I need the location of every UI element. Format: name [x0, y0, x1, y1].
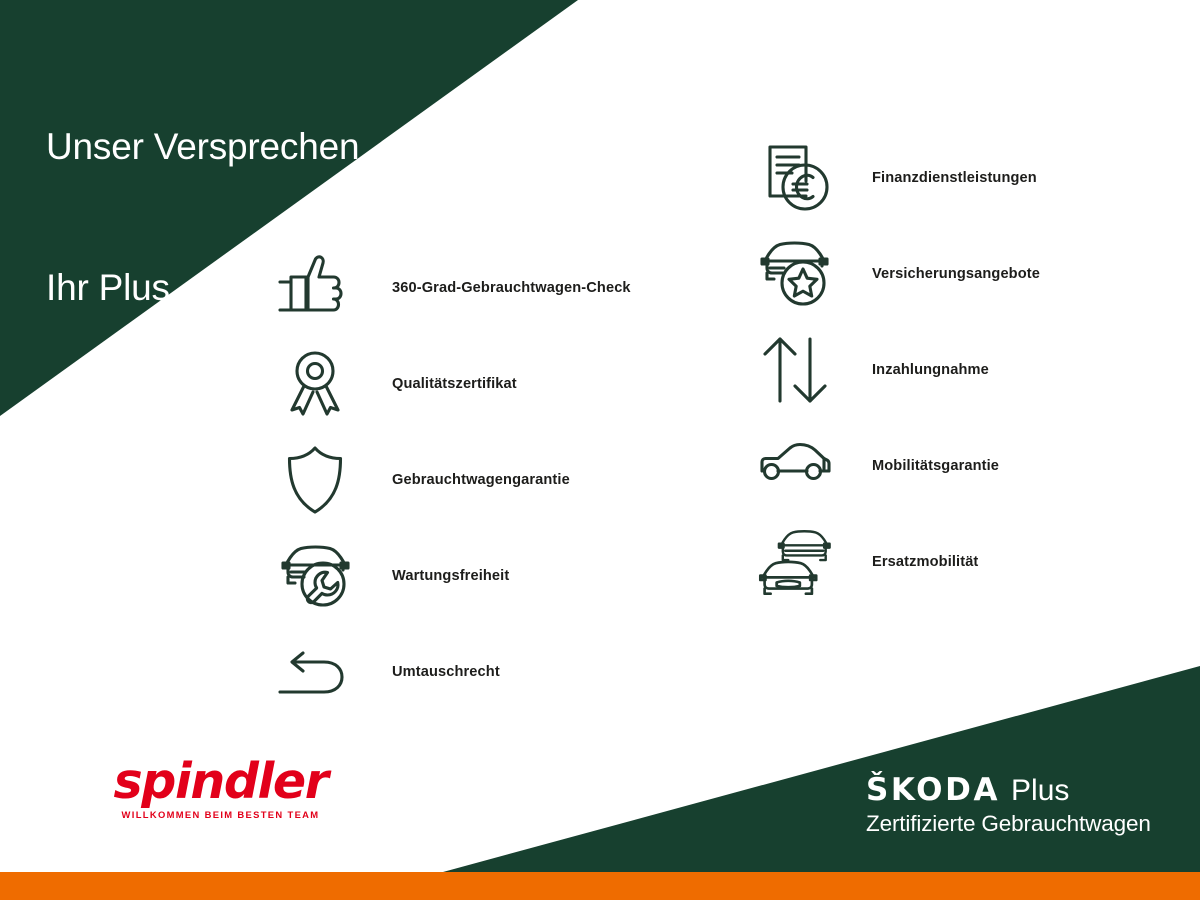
two-cars-icon [758, 525, 832, 599]
promo-banner: Unser Versprechen. Ihr Plus. 360-Grad-Ge… [0, 0, 1200, 900]
feature-item: Umtauschrecht [278, 624, 631, 720]
feature-label: Finanzdienstleistungen [872, 170, 1037, 186]
dealer-logo-tagline: WILLKOMMEN BEIM BESTEN TEAM [78, 809, 363, 820]
dealer-logo-name: spindler [78, 757, 363, 806]
car-star-icon [758, 237, 832, 311]
headline-line-1: Unser Versprechen. [46, 124, 369, 171]
feature-item: Gebrauchtwagengarantie [278, 432, 631, 528]
feature-label: Gebrauchtwagengarantie [392, 472, 570, 488]
dealer-logo: spindler WILLKOMMEN BEIM BESTEN TEAM [78, 757, 363, 820]
feature-label: Qualitätszertifikat [392, 376, 517, 392]
feature-item: Inzahlungnahme [758, 322, 1040, 418]
feature-list-right: Finanzdienstleistungen Versicherungsange… [758, 130, 1040, 610]
car-side-icon [758, 429, 832, 503]
feature-label: Wartungsfreiheit [392, 568, 509, 584]
feature-item: 360-Grad-Gebrauchtwagen-Check [278, 240, 631, 336]
feature-item: Finanzdienstleistungen [758, 130, 1040, 226]
feature-item: Mobilitätsgarantie [758, 418, 1040, 514]
orange-bottom-bar [0, 872, 1200, 900]
brand-logo-suffix: Plus [1011, 776, 1069, 806]
feature-label: Ersatzmobilität [872, 554, 978, 570]
feature-label: Inzahlungnahme [872, 362, 989, 378]
feature-item: Versicherungsangebote [758, 226, 1040, 322]
brand-logo-mark: ŠKODA [866, 775, 1000, 806]
feature-label: Versicherungsangebote [872, 266, 1040, 282]
brand-logo-subtitle: Zertifizierte Gebrauchtwagen [866, 811, 1151, 837]
feature-label: 360-Grad-Gebrauchtwagen-Check [392, 280, 631, 296]
award-rosette-icon [278, 347, 352, 421]
feature-item: Wartungsfreiheit [278, 528, 631, 624]
return-arrow-icon [278, 635, 352, 709]
thumbs-up-icon [278, 251, 352, 325]
feature-item: Ersatzmobilität [758, 514, 1040, 610]
shield-icon [278, 443, 352, 517]
feature-label: Umtauschrecht [392, 664, 500, 680]
feature-label: Mobilitätsgarantie [872, 458, 999, 474]
up-down-arrows-icon [758, 333, 832, 407]
car-wrench-icon [278, 539, 352, 613]
brand-logo: ŠKODA Plus Zertifizierte Gebrauchtwagen [866, 775, 1151, 837]
document-euro-icon [758, 141, 832, 215]
feature-item: Qualitätszertifikat [278, 336, 631, 432]
feature-list-left: 360-Grad-Gebrauchtwagen-Check Qualitätsz… [278, 240, 631, 720]
